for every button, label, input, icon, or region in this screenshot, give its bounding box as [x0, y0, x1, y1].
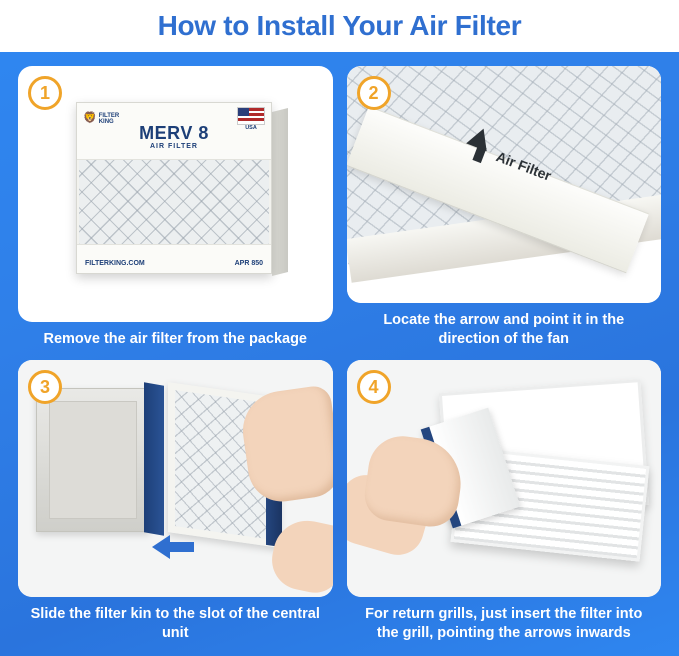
step-1-caption: Remove the air filter from the package: [18, 322, 333, 352]
filter-side-panel: [272, 108, 288, 276]
steps-grid: 1 🦁 FILTER KING: [0, 52, 679, 656]
central-unit-slot: [49, 401, 137, 519]
filter-slot-edge: [144, 382, 164, 536]
step-3-badge: 3: [28, 370, 62, 404]
merv-rating: MERV 8: [77, 123, 271, 144]
filter-front-face: 🦁 FILTER KING USA: [76, 102, 272, 274]
filter-closeup-image: Air Filter: [347, 66, 662, 303]
step-4-caption: For return grills, just insert the filte…: [347, 597, 662, 646]
filter-footer-row: FILTERKING.COM APR 850: [85, 260, 263, 267]
step-card-3: 3 Slide the filter kin to the slot of th…: [18, 360, 333, 646]
filter-frame-bottom: FILTERKING.COM APR 850: [77, 244, 271, 273]
step-card-4: 4 For return grills, just insert the fil…: [347, 360, 662, 646]
step-card-2: 2 Air Filter Locate the arrow and point …: [347, 66, 662, 352]
brand-line-1: FILTER: [99, 113, 120, 119]
infographic-root: How to Install Your Air Filter 1 🦁: [0, 0, 679, 656]
direction-arrow-stem: [168, 542, 194, 552]
step-4-photo: 4: [347, 360, 662, 597]
filter-standard: APR 850: [235, 260, 263, 267]
filter-frame-top: 🦁 FILTER KING USA: [77, 103, 271, 160]
slide-filter-image: [18, 360, 333, 597]
step-3-photo: 3: [18, 360, 333, 597]
step-2-caption: Locate the arrow and point it in the dir…: [347, 303, 662, 352]
step-4-badge: 4: [357, 370, 391, 404]
step-1-photo: 1 🦁 FILTER KING: [18, 66, 333, 322]
step-2-badge: 2: [357, 76, 391, 110]
central-unit: [36, 388, 150, 532]
step-3-caption: Slide the filter kin to the slot of the …: [18, 597, 333, 646]
boxed-air-filter-image: 🦁 FILTER KING USA: [76, 102, 272, 274]
merv-subtitle: AIR FILTER: [77, 143, 271, 150]
step-2-photo: 2 Air Filter: [347, 66, 662, 303]
title-bar: How to Install Your Air Filter: [0, 0, 679, 52]
filter-website: FILTERKING.COM: [85, 260, 145, 267]
filter-mesh-pattern: [79, 159, 269, 245]
step-1-badge: 1: [28, 76, 62, 110]
direction-arrow-icon: [152, 535, 170, 559]
return-grill-image: [347, 360, 662, 597]
page-title: How to Install Your Air Filter: [158, 10, 522, 42]
step-card-1: 1 🦁 FILTER KING: [18, 66, 333, 352]
